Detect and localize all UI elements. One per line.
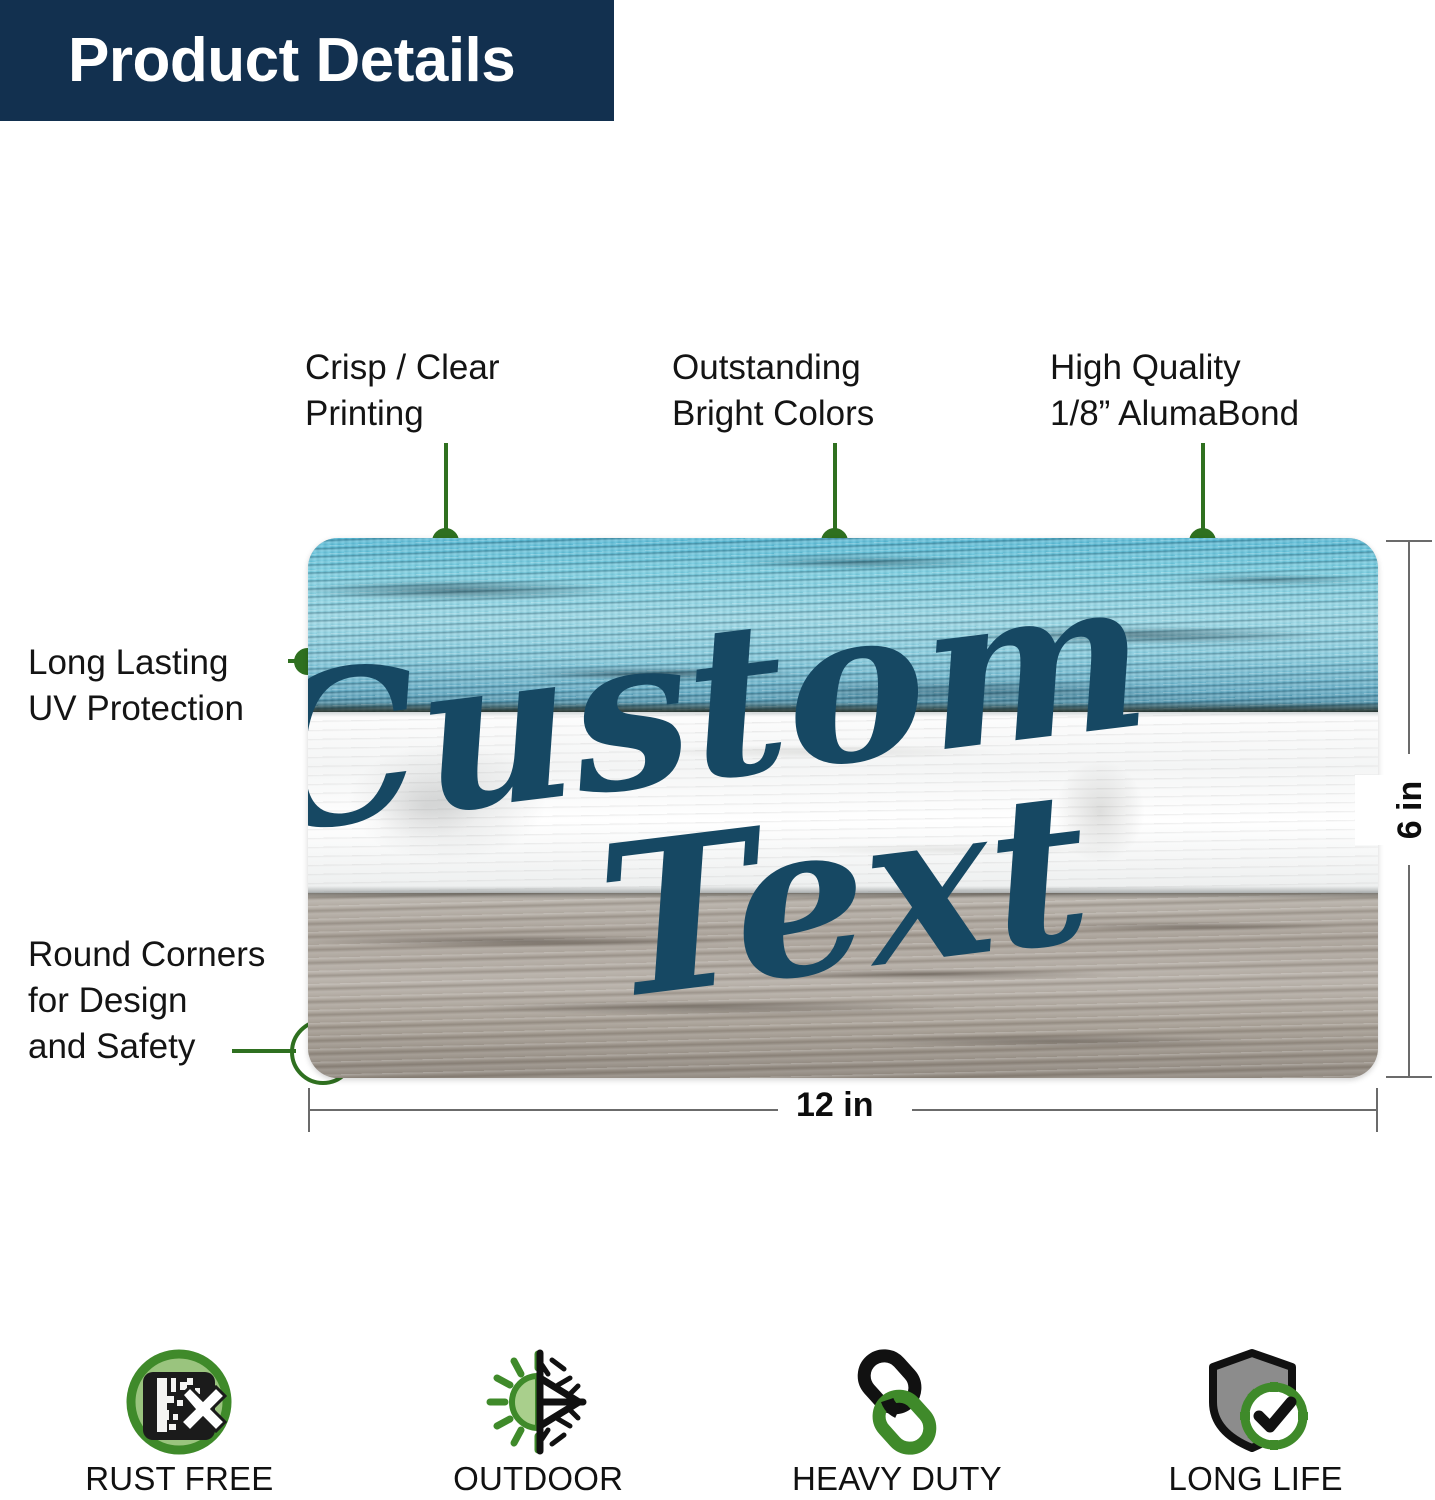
leader-line-round-corners (232, 1049, 296, 1053)
sign-plank-white (308, 712, 1378, 893)
product-sign-preview: Custom Text (308, 538, 1378, 1078)
dimension-line-height-upper (1408, 540, 1410, 754)
plank-edge-highlight (308, 712, 1378, 717)
dimension-line-width-left (308, 1109, 778, 1111)
shield-clock-icon (1202, 1348, 1310, 1456)
dimension-line-height-lower (1408, 865, 1410, 1078)
feature-badge-row: RUST FREE (0, 1348, 1435, 1500)
product-details-infographic: Product Details Crisp / Clear Printing O… (0, 0, 1435, 1500)
page-title: Product Details (0, 30, 515, 92)
feature-label-long-life: LONG LIFE (1169, 1460, 1343, 1498)
feature-heavy-duty: HEAVY DUTY (718, 1348, 1077, 1498)
dimension-line-width-right (912, 1109, 1378, 1111)
dimension-label-height: 6 in (1355, 775, 1435, 845)
sign-plank-gray (308, 893, 1378, 1078)
feature-outdoor: OUTDOOR (359, 1348, 718, 1498)
feature-label-outdoor: OUTDOOR (453, 1460, 623, 1498)
callout-outstanding-bright-colors: Outstanding Bright Colors (672, 345, 874, 437)
callout-high-quality-alumabond: High Quality 1/8” AlumaBond (1050, 345, 1299, 437)
feature-long-life: LONG LIFE (1076, 1348, 1435, 1498)
plank-edge-shadow (308, 893, 1378, 899)
feature-rust-free: RUST FREE (0, 1348, 359, 1498)
callout-long-lasting-uv-protection: Long Lasting UV Protection (28, 640, 244, 732)
chain-link-icon (843, 1348, 951, 1456)
header-banner: Product Details (0, 0, 614, 121)
callout-crisp-clear-printing: Crisp / Clear Printing (305, 345, 499, 437)
sign-plank-blue (308, 538, 1378, 712)
callout-round-corners: Round Corners for Design and Safety (28, 932, 265, 1071)
plank-edge-shadow (308, 702, 1378, 712)
feature-label-heavy-duty: HEAVY DUTY (792, 1460, 1002, 1498)
dimension-label-width: 12 in (786, 1086, 883, 1125)
feature-label-rust-free: RUST FREE (85, 1460, 273, 1498)
rust-free-icon (125, 1348, 233, 1456)
sun-snowflake-icon (484, 1348, 592, 1456)
plank-edge-shadow (308, 886, 1378, 893)
